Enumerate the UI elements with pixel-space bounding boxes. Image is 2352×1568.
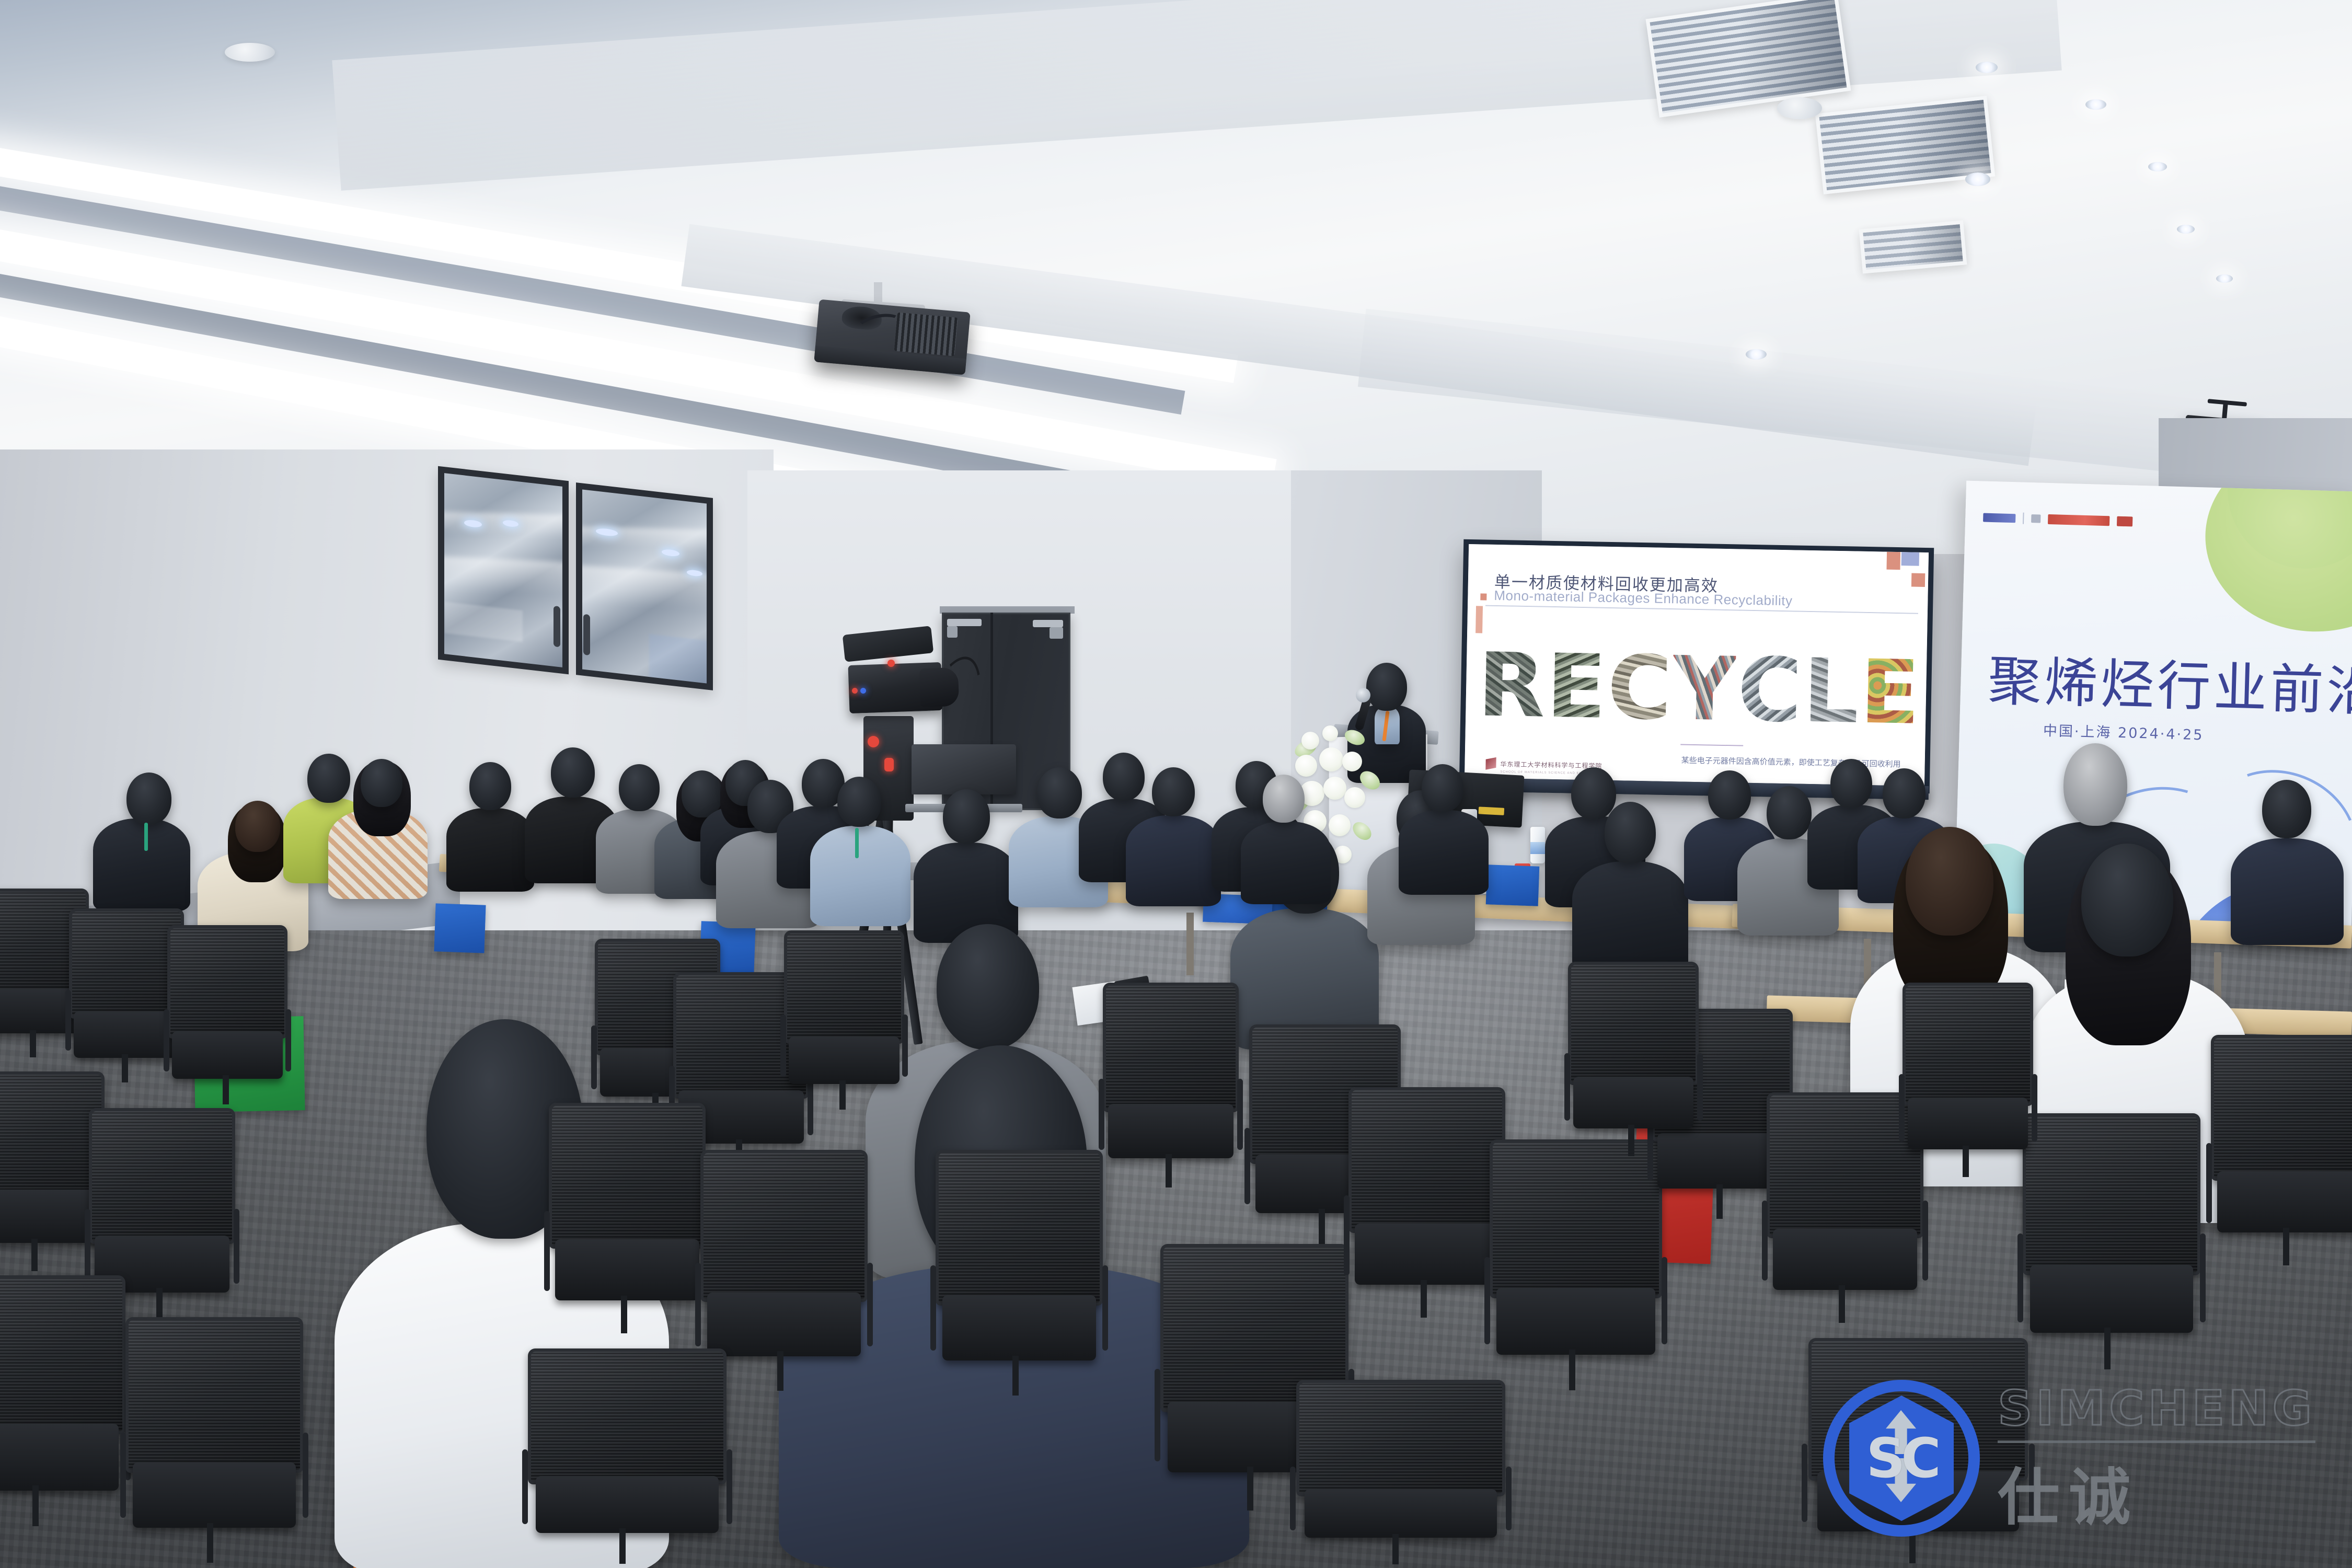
chair-arm-right	[902, 1014, 908, 1077]
chair-post	[2283, 1228, 2289, 1265]
chair-post	[1716, 1184, 1723, 1219]
chair-seat	[1355, 1224, 1499, 1285]
attendee-near-podium-3	[1238, 774, 1337, 904]
attendee-torso	[1241, 822, 1331, 904]
office-chair[interactable]	[936, 1150, 1103, 1401]
chair-seat	[172, 1031, 283, 1079]
banner-logo-blue-icon	[1983, 513, 2015, 523]
chair-backrest	[125, 1317, 303, 1473]
chair-post	[1963, 1146, 1969, 1178]
chair-seat	[133, 1462, 296, 1528]
watermark-logo: SC SIMCHENG 仕诚	[1823, 1380, 2315, 1537]
office-chair[interactable]	[125, 1317, 303, 1568]
chair-arm-right	[1922, 1201, 1928, 1281]
chair-seat	[2030, 1265, 2194, 1333]
banner-logo-red-year-icon	[2117, 516, 2133, 526]
brand-name-chinese: 仕诚	[1998, 1447, 2315, 1537]
window-reflected-light	[662, 549, 679, 557]
camera-power-led-icon	[860, 688, 866, 694]
chair-arm-left	[85, 1209, 90, 1284]
chair-seat	[1773, 1229, 1917, 1290]
chair-backrest	[1348, 1087, 1505, 1233]
chair-backrest	[1103, 983, 1239, 1112]
slide-accent-periwinkle	[1901, 552, 1919, 566]
chair-arm-left	[1802, 1444, 1807, 1522]
hvac-vent-shading	[1650, 0, 1847, 113]
attendee-head	[2262, 780, 2311, 838]
chair-arm-left	[2017, 1233, 2023, 1322]
chair-seat	[0, 1424, 119, 1490]
chair-arm-right	[1237, 1079, 1243, 1150]
recycle-wordmark: R E C Y C L E	[1477, 634, 1919, 744]
chair-arm-right	[2032, 1074, 2037, 1142]
attendee-torso	[1126, 815, 1221, 906]
office-chair[interactable]	[1296, 1380, 1505, 1568]
recycle-letter-l: L	[1802, 655, 1859, 729]
recycle-letter-e2: E	[1859, 656, 1919, 730]
office-chair[interactable]	[528, 1348, 727, 1568]
chair-arm-left	[1344, 1195, 1350, 1275]
chair-arm-right	[867, 1263, 873, 1346]
chair-post	[619, 1528, 626, 1563]
chair-arm-left	[1484, 1257, 1490, 1344]
office-chair[interactable]	[167, 925, 287, 1108]
attendee-torso	[1399, 810, 1489, 895]
downlight-2	[1976, 62, 1998, 73]
chair-arm-left	[2206, 1143, 2212, 1223]
smoke-detector-1	[1777, 97, 1822, 119]
chair-seat	[2217, 1171, 2352, 1232]
chair-backrest	[1568, 962, 1699, 1085]
downlight-7	[1746, 349, 1767, 360]
tote-bag-blue-7	[434, 903, 486, 953]
flower-bloom	[1322, 725, 1338, 741]
attendee-torso	[1572, 861, 1688, 972]
attendee-head	[469, 762, 511, 810]
door-closer-left	[947, 619, 982, 626]
smoke-detector-2	[225, 43, 275, 62]
chair-post	[621, 1296, 627, 1333]
chair-arm-left	[780, 1014, 786, 1077]
flower-leaf	[1342, 727, 1367, 748]
downlight-6	[2216, 274, 2233, 283]
projector	[814, 299, 970, 375]
simcheng-sc-badge-icon: SC	[1823, 1380, 1980, 1537]
chair-backrest	[784, 930, 904, 1044]
flower-bloom	[1342, 752, 1362, 771]
attendee-head	[837, 777, 881, 827]
window-reflection-band	[444, 556, 562, 597]
flower-bloom	[1344, 787, 1365, 808]
chair-seat	[1573, 1077, 1693, 1128]
chair-arm-left	[591, 1025, 597, 1089]
window-reflection-panel	[444, 602, 523, 642]
chair-post	[30, 1030, 36, 1058]
tripod-lock-knob-icon	[868, 736, 879, 747]
downlight-1	[1965, 172, 1990, 186]
chair-backrest	[528, 1348, 727, 1484]
chair-backrest	[89, 1108, 235, 1244]
chair-backrest	[2211, 1035, 2352, 1181]
window-reflection-band	[444, 512, 562, 538]
chair-seat	[1108, 1104, 1233, 1158]
chair-backrest	[936, 1150, 1103, 1306]
slide-accent-square	[1480, 593, 1486, 600]
chair-post	[1247, 1467, 1253, 1510]
chair-seat	[555, 1239, 699, 1300]
banner-logo-grey-icon	[2031, 514, 2040, 523]
office-chair[interactable]	[2211, 1035, 2352, 1270]
tripod-lock-knob-icon-2	[884, 758, 894, 771]
office-chair[interactable]	[1103, 983, 1239, 1192]
chair-post	[1166, 1154, 1172, 1187]
window-handle-right	[583, 614, 590, 655]
attendee-torso	[810, 826, 910, 926]
chair-post	[223, 1075, 229, 1104]
camera-record-led-icon	[887, 660, 895, 667]
attendee-mid-left-3	[807, 775, 917, 926]
chair-seat	[1908, 1098, 2028, 1149]
office-chair[interactable]	[784, 930, 904, 1113]
chair-seat	[536, 1476, 719, 1533]
recycle-letter-y: Y	[1672, 653, 1736, 726]
attendee-head	[1422, 764, 1463, 812]
hvac-vent-shading	[1863, 224, 1963, 270]
camera-tally-led-icon	[852, 688, 858, 694]
interior-window-left	[438, 466, 569, 674]
banner-logo-row	[1983, 512, 2133, 527]
banner-title: 聚烯烃行业前沿	[1987, 638, 2349, 725]
chair-arm-right	[1102, 1265, 1108, 1351]
interior-window-right	[576, 482, 713, 690]
hvac-vent-1	[1646, 0, 1851, 118]
attendee-head	[943, 789, 990, 844]
speaker-head	[1366, 663, 1407, 711]
chair-arm-right	[1506, 1467, 1512, 1530]
chair-post	[839, 1080, 846, 1110]
attendee-near-podium-4	[1396, 764, 1495, 895]
chair-arm-left	[1290, 1467, 1296, 1530]
attendee-torso	[93, 818, 190, 912]
attendee-back-left-4	[324, 758, 434, 899]
chair-backrest	[2023, 1113, 2200, 1275]
brand-name-english: SIMCHENG	[1998, 1380, 2315, 1436]
banner-logo-divider	[2023, 513, 2024, 524]
chair-backrest	[167, 925, 287, 1039]
slide-accent-salmon-2	[1911, 573, 1925, 587]
chair-backrest	[1490, 1139, 1662, 1298]
chair-post	[2104, 1328, 2111, 1369]
chair-post	[1569, 1350, 1575, 1390]
chair-post	[1839, 1285, 1845, 1323]
chair-arm-left	[120, 1433, 126, 1518]
chair-arm-right	[727, 1449, 732, 1524]
chair-seat	[707, 1293, 861, 1356]
attendee-head	[235, 801, 280, 852]
chair-arm-left	[1155, 1369, 1160, 1461]
chair-arm-right	[285, 1009, 291, 1071]
attendee-head	[361, 759, 402, 807]
table-leg	[1186, 913, 1194, 975]
chair-seat	[1305, 1489, 1497, 1538]
chair-arm-left	[1244, 1128, 1250, 1204]
chair-arm-right	[2200, 1233, 2206, 1322]
office-chair[interactable]	[2023, 1113, 2200, 1375]
attendee-head	[2063, 743, 2127, 826]
brand-divider	[1998, 1440, 2315, 1443]
window-handle-left	[554, 606, 560, 647]
office-chair[interactable]	[1568, 962, 1699, 1160]
chair-arm-left	[695, 1263, 701, 1346]
chair-post	[122, 1054, 128, 1082]
chair-post	[777, 1351, 783, 1390]
recycle-letter-r: R	[1477, 649, 1545, 722]
downlight-3	[2085, 99, 2106, 110]
office-chair[interactable]	[1490, 1139, 1662, 1396]
attendee-head	[1906, 827, 1993, 936]
banner-logo-red-icon	[2048, 514, 2109, 525]
chair-post	[1319, 1209, 1325, 1245]
chair-post	[207, 1523, 213, 1563]
chair-post	[1392, 1534, 1399, 1564]
chair-backrest	[69, 908, 184, 1019]
chair-arm-left	[1899, 1074, 1905, 1142]
chair-seat	[942, 1295, 1096, 1361]
chair-seat	[1496, 1288, 1655, 1354]
watermark-text-block: SIMCHENG 仕诚	[1998, 1380, 2315, 1537]
office-chair[interactable]	[549, 1103, 706, 1338]
banner-subtitle: 中国·上海 2024·4·25	[2043, 719, 2204, 744]
conference-room-photo: 单一材质使材料回收更加高效 Mono-material Packages Enh…	[0, 0, 2352, 1568]
recycle-letter-e: E	[1546, 651, 1606, 724]
chair-arm-left	[1762, 1201, 1768, 1281]
office-chair[interactable]	[1348, 1087, 1505, 1322]
attendee-lanyard	[855, 828, 859, 858]
chair-arm-left	[65, 990, 71, 1051]
chair-backrest	[1296, 1380, 1505, 1496]
chair-post	[1012, 1356, 1019, 1396]
attendee-back-left-1	[88, 770, 198, 912]
attendee-lanyard	[144, 823, 148, 851]
chair-arm-left	[1099, 1079, 1104, 1150]
recycle-letter-c: C	[1607, 652, 1671, 725]
attendee-head	[1263, 775, 1305, 823]
office-chair[interactable]	[0, 1275, 125, 1531]
chair-post	[32, 1485, 39, 1526]
attendee-right-2	[1568, 800, 1693, 972]
attendee-head	[1152, 767, 1195, 816]
chair-seat	[789, 1036, 900, 1084]
downlight-4	[2148, 162, 2167, 171]
projection-screen: 单一材质使材料回收更加高效 Mono-material Packages Enh…	[1459, 539, 1934, 793]
hvac-vent-3	[1859, 220, 1967, 273]
attendee-head	[937, 924, 1039, 1050]
slide-accent-tab	[1475, 606, 1483, 633]
door-closer-right-body	[1050, 627, 1063, 639]
door-closer-left-body	[947, 626, 958, 638]
chair-arm-left	[544, 1211, 550, 1291]
chair-post	[31, 1239, 38, 1271]
chair-arm-right	[1662, 1257, 1667, 1344]
chair-arm-right	[303, 1433, 308, 1518]
chair-arm-right	[1697, 1053, 1703, 1121]
microphone-head-icon	[1356, 688, 1370, 702]
window-reflection-desk	[649, 634, 707, 684]
attendee-head	[1883, 768, 1926, 818]
attendee-head	[551, 747, 595, 798]
slide-body-underline	[1680, 744, 1743, 746]
office-chair[interactable]	[1903, 983, 2033, 1181]
slide-accent-salmon	[1886, 552, 1900, 570]
flower-bloom	[1301, 732, 1319, 750]
window-glass	[444, 473, 562, 667]
chair-arm-right	[234, 1209, 239, 1284]
chair-arm-left	[522, 1449, 528, 1524]
recycle-letter-c2: C	[1737, 654, 1802, 728]
presentation-slide: 单一材质使材料回收更加高效 Mono-material Packages Enh…	[1465, 544, 1929, 786]
chair-backrest	[549, 1103, 706, 1249]
chair-arm-left	[164, 1009, 169, 1071]
screen-surface: 单一材质使材料回收更加高效 Mono-material Packages Enh…	[1465, 544, 1929, 786]
chair-arm-left	[930, 1265, 936, 1351]
badge-letters: SC	[1849, 1396, 1954, 1521]
flower-bloom	[1319, 747, 1343, 771]
chair-backrest	[0, 1275, 125, 1434]
attendee-head	[126, 773, 171, 825]
projector-vent-fins	[894, 313, 958, 356]
chair-post	[1628, 1125, 1634, 1157]
window-glass	[582, 489, 707, 683]
attendee-head	[1605, 802, 1656, 863]
downlight-5	[2177, 225, 2195, 234]
attendee-head	[2081, 844, 2173, 956]
chair-post	[1421, 1280, 1427, 1318]
chair-backrest	[1903, 983, 2033, 1106]
chair-arm-left	[1564, 1053, 1570, 1121]
banner-blob-green	[2203, 481, 2352, 635]
chair-backrest	[700, 1150, 868, 1302]
door-closer-right	[1033, 620, 1063, 627]
